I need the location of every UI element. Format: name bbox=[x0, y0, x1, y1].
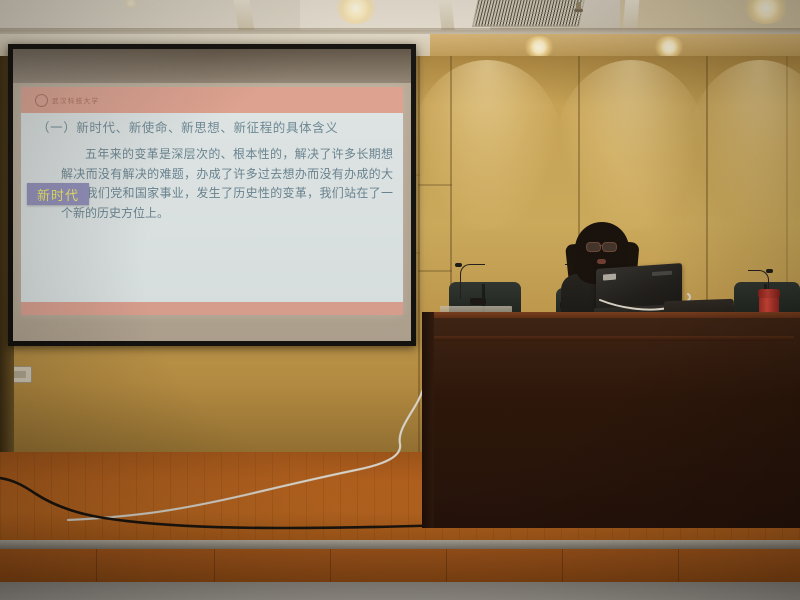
sprinkler-head bbox=[576, 2, 581, 11]
ceiling-panel bbox=[300, 0, 490, 30]
downlight bbox=[654, 36, 684, 58]
downlight bbox=[524, 36, 554, 58]
mouth bbox=[597, 259, 606, 264]
thermos-cap bbox=[758, 289, 780, 298]
wall-seam bbox=[418, 184, 452, 186]
ceiling-beam bbox=[623, 0, 640, 30]
university-logo: 武汉科技大学 bbox=[35, 92, 99, 108]
podium-desk bbox=[422, 318, 800, 528]
wall-seam bbox=[418, 270, 452, 272]
slide-body-text: 五年来的变革是深层次的、根本性的，解决了许多长期想解决而没有解决的难题，办成了许… bbox=[61, 145, 393, 223]
stage-edge-strip bbox=[0, 540, 800, 549]
slide-badge: 新时代 bbox=[27, 183, 89, 205]
glasses-lens-left bbox=[586, 242, 601, 252]
ceiling-panel bbox=[0, 0, 300, 30]
microphone-head bbox=[766, 269, 773, 273]
screen-surface: 武汉科技大学 （一）新时代、新使命、新思想、新征程的具体含义 五年来的变革是深层… bbox=[13, 49, 411, 341]
podium-side bbox=[422, 312, 434, 528]
microphone-head bbox=[455, 263, 462, 267]
screen-top-shadow bbox=[13, 49, 411, 83]
slide-title: （一）新时代、新使命、新思想、新征程的具体含义 bbox=[37, 120, 387, 135]
presentation-slide: 武汉科技大学 （一）新时代、新使命、新思想、新征程的具体含义 五年来的变革是深层… bbox=[21, 87, 403, 315]
podium-trim bbox=[428, 336, 794, 341]
stage-riser bbox=[0, 549, 800, 582]
lecture-hall-photo: 武汉科技大学 （一）新时代、新使命、新思想、新征程的具体含义 五年来的变革是深层… bbox=[0, 0, 800, 600]
wall-light-glow bbox=[412, 60, 562, 230]
gooseneck-microphone-left bbox=[460, 264, 485, 299]
wall-seam bbox=[418, 56, 420, 476]
slide-header-band: 武汉科技大学 bbox=[21, 87, 403, 113]
laptop-brand-badge bbox=[652, 271, 672, 276]
glasses-lens-right bbox=[602, 242, 617, 252]
university-seal-icon bbox=[35, 94, 48, 107]
air-vent-grille bbox=[472, 0, 585, 27]
projection-screen: 武汉科技大学 （一）新时代、新使命、新思想、新征程的具体含义 五年来的变革是深层… bbox=[8, 44, 416, 346]
glasses-bridge bbox=[599, 245, 603, 246]
microphone-base bbox=[470, 298, 486, 305]
wall-seam bbox=[706, 56, 708, 306]
aisle-floor bbox=[0, 582, 800, 600]
slide-footer-band bbox=[21, 302, 403, 315]
laptop-sticker bbox=[603, 274, 616, 281]
university-logo-text: 武汉科技大学 bbox=[52, 95, 99, 105]
